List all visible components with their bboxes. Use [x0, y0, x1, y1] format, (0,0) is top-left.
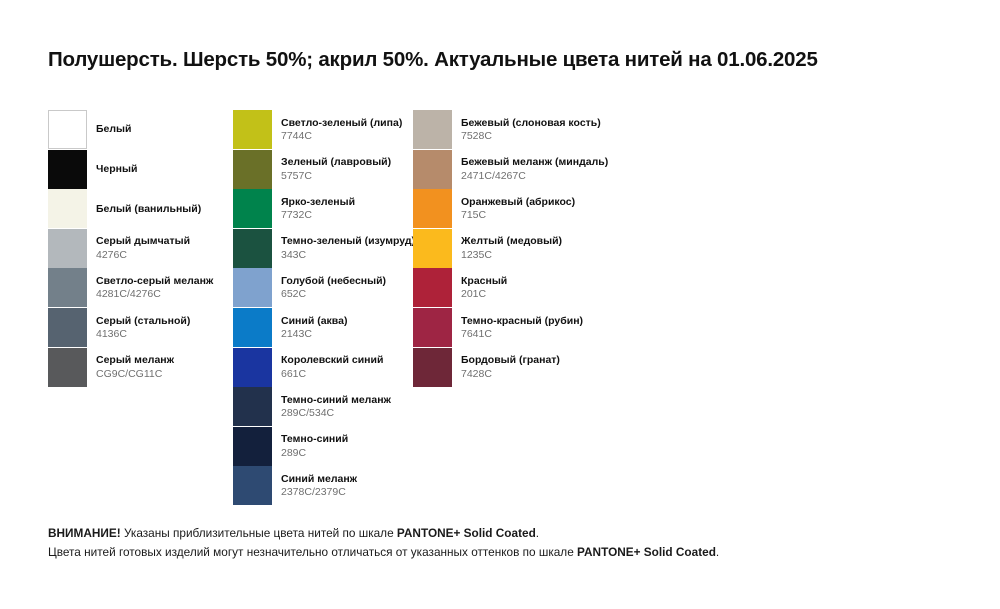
color-swatch[interactable] — [233, 189, 272, 228]
swatch-row[interactable]: Темно-синий289C — [233, 427, 423, 467]
swatch-pantone-code: 1235C — [461, 249, 562, 261]
swatch-name: Бежевый (слоновая кость) — [461, 117, 601, 129]
swatch-labels: Светло-серый меланж4281C/4276C — [96, 268, 213, 307]
swatch-pantone-code: 7744C — [281, 130, 402, 142]
color-swatch[interactable] — [233, 110, 272, 149]
color-swatch[interactable] — [48, 150, 87, 189]
swatch-labels: Бежевый (слоновая кость)7528C — [461, 110, 601, 149]
footer-pantone-label-2: PANTONE+ Solid Coated — [577, 545, 716, 559]
swatch-column-2: Светло-зеленый (липа)7744CЗеленый (лавро… — [233, 110, 423, 506]
swatch-name: Белый (ванильный) — [96, 203, 201, 215]
color-swatch[interactable] — [233, 466, 272, 505]
swatch-name: Серый дымчатый — [96, 235, 190, 247]
swatch-labels: Голубой (небесный)652C — [281, 268, 386, 307]
swatch-name: Синий (аква) — [281, 315, 347, 327]
swatch-name: Серый меланж — [96, 354, 174, 366]
color-swatch[interactable] — [233, 268, 272, 307]
swatch-labels: Черный — [96, 150, 137, 189]
swatch-name: Светло-серый меланж — [96, 275, 213, 287]
swatch-row[interactable]: Серый меланжCG9C/CG11C — [48, 348, 238, 388]
swatch-labels: Зеленый (лавровый)5757C — [281, 150, 391, 189]
swatch-pantone-code: 4281C/4276C — [96, 288, 213, 300]
swatch-row[interactable]: Светло-зеленый (липа)7744C — [233, 110, 423, 150]
footer-line-1-text: Указаны приблизительные цвета нитей по ш… — [121, 526, 397, 540]
swatch-labels: Красный201C — [461, 268, 507, 307]
swatch-labels: Светло-зеленый (липа)7744C — [281, 110, 402, 149]
swatch-pantone-code: 661C — [281, 368, 383, 380]
color-swatch[interactable] — [233, 229, 272, 268]
color-swatch[interactable] — [413, 348, 452, 387]
swatch-pantone-code: 7732C — [281, 209, 355, 221]
footer-line-2-end: . — [716, 545, 719, 559]
swatch-pantone-code: CG9C/CG11C — [96, 368, 174, 380]
swatch-name: Бежевый меланж (миндаль) — [461, 156, 608, 168]
swatch-pantone-code: 7428C — [461, 368, 560, 380]
swatch-labels: Темно-синий289C — [281, 427, 348, 466]
swatch-row[interactable]: Серый (стальной)4136C — [48, 308, 238, 348]
swatch-name: Желтый (медовый) — [461, 235, 562, 247]
swatch-pantone-code: 5757C — [281, 170, 391, 182]
swatch-pantone-code: 2143C — [281, 328, 347, 340]
swatch-pantone-code: 7641C — [461, 328, 583, 340]
swatch-row[interactable]: Бордовый (гранат)7428C — [413, 348, 603, 388]
color-swatch[interactable] — [48, 308, 87, 347]
swatch-labels: Серый меланжCG9C/CG11C — [96, 348, 174, 387]
swatch-name: Белый — [96, 123, 131, 135]
swatch-name: Светло-зеленый (липа) — [281, 117, 402, 129]
swatch-pantone-code: 7528C — [461, 130, 601, 142]
swatch-row[interactable]: Черный — [48, 150, 238, 190]
swatch-labels: Оранжевый (абрикос)715C — [461, 189, 575, 228]
color-swatch[interactable] — [233, 308, 272, 347]
color-swatch[interactable] — [413, 189, 452, 228]
swatch-name: Темно-синий меланж — [281, 394, 391, 406]
color-swatch[interactable] — [48, 229, 87, 268]
swatch-row[interactable]: Зеленый (лавровый)5757C — [233, 150, 423, 190]
page-title: Полушерсть. Шерсть 50%; акрил 50%. Актуа… — [48, 48, 818, 72]
swatch-row[interactable]: Бежевый меланж (миндаль)2471C/4267C — [413, 150, 603, 190]
swatch-row[interactable]: Желтый (медовый)1235C — [413, 229, 603, 269]
swatch-name: Королевский синий — [281, 354, 383, 366]
swatch-name: Темно-зеленый (изумруд) — [281, 235, 415, 247]
swatch-row[interactable]: Серый дымчатый4276C — [48, 229, 238, 269]
swatch-labels: Серый (стальной)4136C — [96, 308, 190, 347]
color-swatch[interactable] — [413, 150, 452, 189]
color-swatch[interactable] — [48, 268, 87, 307]
swatch-row[interactable]: Темно-синий меланж289C/534C — [233, 387, 423, 427]
swatch-row[interactable]: Ярко-зеленый7732C — [233, 189, 423, 229]
swatch-pantone-code: 289C/534C — [281, 407, 391, 419]
color-swatch[interactable] — [233, 150, 272, 189]
swatch-name: Красный — [461, 275, 507, 287]
footer-line-1: ВНИМАНИЕ! Указаны приблизительные цвета … — [48, 524, 948, 543]
swatch-row[interactable]: Темно-зеленый (изумруд)343C — [233, 229, 423, 269]
color-swatch[interactable] — [413, 308, 452, 347]
swatch-name: Синий меланж — [281, 473, 357, 485]
color-swatch[interactable] — [233, 427, 272, 466]
swatch-labels: Желтый (медовый)1235C — [461, 229, 562, 268]
swatch-name: Ярко-зеленый — [281, 196, 355, 208]
swatch-row[interactable]: Синий (аква)2143C — [233, 308, 423, 348]
swatch-labels: Белый (ванильный) — [96, 189, 201, 228]
swatch-row[interactable]: Темно-красный (рубин)7641C — [413, 308, 603, 348]
footer-line-2: Цвета нитей готовых изделий могут незнач… — [48, 543, 948, 562]
swatch-pantone-code: 4136C — [96, 328, 190, 340]
swatch-row[interactable]: Белый — [48, 110, 238, 150]
swatch-labels: Бежевый меланж (миндаль)2471C/4267C — [461, 150, 608, 189]
swatch-labels: Синий (аква)2143C — [281, 308, 347, 347]
footer-note: ВНИМАНИЕ! Указаны приблизительные цвета … — [48, 524, 948, 562]
swatch-labels: Серый дымчатый4276C — [96, 229, 190, 268]
swatch-row[interactable]: Королевский синий661C — [233, 348, 423, 388]
color-swatch[interactable] — [48, 189, 87, 228]
swatch-row[interactable]: Синий меланж2378C/2379C — [233, 466, 423, 506]
swatch-row[interactable]: Белый (ванильный) — [48, 189, 238, 229]
swatch-labels: Королевский синий661C — [281, 348, 383, 387]
swatch-labels: Темно-синий меланж289C/534C — [281, 387, 391, 426]
footer-line-1-end: . — [536, 526, 539, 540]
swatch-labels: Бордовый (гранат)7428C — [461, 348, 560, 387]
swatch-name: Темно-красный (рубин) — [461, 315, 583, 327]
swatch-name: Темно-синий — [281, 433, 348, 445]
swatch-name: Бордовый (гранат) — [461, 354, 560, 366]
swatch-name: Голубой (небесный) — [281, 275, 386, 287]
footer-attention-label: ВНИМАНИЕ! — [48, 526, 121, 540]
swatch-column-3: Бежевый (слоновая кость)7528CБежевый мел… — [413, 110, 603, 387]
swatch-pantone-code: 343C — [281, 249, 415, 261]
swatch-pantone-code: 2471C/4267C — [461, 170, 608, 182]
swatch-labels: Синий меланж2378C/2379C — [281, 466, 357, 505]
swatch-pantone-code: 4276C — [96, 249, 190, 261]
swatch-pantone-code: 2378C/2379C — [281, 486, 357, 498]
swatch-labels: Темно-зеленый (изумруд)343C — [281, 229, 415, 268]
swatch-name: Оранжевый (абрикос) — [461, 196, 575, 208]
color-swatch[interactable] — [48, 348, 87, 387]
swatch-labels: Ярко-зеленый7732C — [281, 189, 355, 228]
swatch-labels: Белый — [96, 110, 131, 149]
footer-line-2-text: Цвета нитей готовых изделий могут незнач… — [48, 545, 577, 559]
color-swatch[interactable] — [413, 268, 452, 307]
swatch-name: Черный — [96, 163, 137, 175]
swatch-pantone-code: 652C — [281, 288, 386, 300]
color-swatch[interactable] — [413, 229, 452, 268]
swatch-name: Серый (стальной) — [96, 315, 190, 327]
color-swatch[interactable] — [48, 110, 87, 149]
color-swatch[interactable] — [413, 110, 452, 149]
swatch-row[interactable]: Голубой (небесный)652C — [233, 268, 423, 308]
swatch-name: Зеленый (лавровый) — [281, 156, 391, 168]
swatch-row[interactable]: Светло-серый меланж4281C/4276C — [48, 268, 238, 308]
swatch-pantone-code: 289C — [281, 447, 348, 459]
swatch-row[interactable]: Оранжевый (абрикос)715C — [413, 189, 603, 229]
color-palette-page: Полушерсть. Шерсть 50%; акрил 50%. Актуа… — [0, 0, 1000, 609]
swatch-pantone-code: 715C — [461, 209, 575, 221]
swatch-labels: Темно-красный (рубин)7641C — [461, 308, 583, 347]
color-swatch[interactable] — [233, 348, 272, 387]
footer-pantone-label-1: PANTONE+ Solid Coated — [397, 526, 536, 540]
swatch-column-1: БелыйЧерныйБелый (ванильный)Серый дымчат… — [48, 110, 238, 387]
swatch-row[interactable]: Красный201C — [413, 268, 603, 308]
swatch-pantone-code: 201C — [461, 288, 507, 300]
swatch-row[interactable]: Бежевый (слоновая кость)7528C — [413, 110, 603, 150]
color-swatch[interactable] — [233, 387, 272, 426]
